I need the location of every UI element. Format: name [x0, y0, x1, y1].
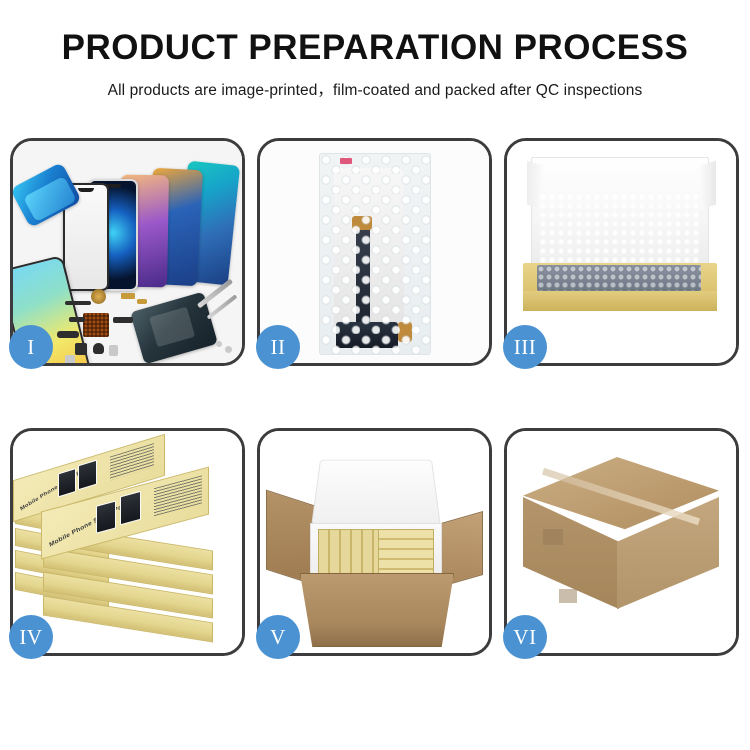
stacked-boxes-photo: Mobile Phone Spare Parts Mobile Phone Sp… — [13, 431, 242, 653]
process-step-grid: I II — [10, 138, 745, 656]
process-step-panel-3[interactable]: III — [504, 138, 739, 366]
process-step-panel-1[interactable]: I — [10, 138, 245, 366]
white-foam-sheet — [539, 193, 699, 265]
flex-cable-part-2 — [137, 299, 147, 304]
step-badge-3: III — [503, 325, 547, 369]
step-badge-4: IV — [9, 615, 53, 659]
page-header: PRODUCT PREPARATION PROCESS All products… — [0, 0, 750, 100]
page-title: PRODUCT PREPARATION PROCESS — [0, 30, 750, 67]
open-flat-box-photo — [507, 141, 736, 363]
process-step-panel-2[interactable]: II — [257, 138, 492, 366]
kraft-tray-front-wall — [523, 291, 717, 311]
step-badge-2: II — [256, 325, 300, 369]
process-step-panel-4[interactable]: Mobile Phone Spare Parts Mobile Phone Sp… — [10, 428, 245, 656]
box-stack: Mobile Phone Spare Parts Mobile Phone Sp… — [13, 431, 242, 653]
step-badge-5: V — [256, 615, 300, 659]
bubble-wrap-bag — [319, 153, 431, 355]
panel-5-image — [260, 431, 489, 653]
foam-lid — [311, 460, 440, 525]
speaker-part — [91, 289, 106, 304]
inner-yellow-boxes-stack — [378, 529, 434, 577]
panel-3-image — [507, 141, 736, 363]
panel-2-image — [260, 141, 489, 363]
carton-body — [300, 573, 454, 647]
panel-4-image: Mobile Phone Spare Parts Mobile Phone Sp… — [13, 431, 242, 653]
button-part — [65, 355, 75, 363]
screw-part-2 — [216, 341, 222, 347]
small-connector-2 — [57, 331, 79, 338]
vibration-motor-part — [93, 343, 104, 354]
camera-module-part — [75, 343, 87, 355]
screw-organizer-part — [83, 313, 109, 337]
panel-6-image — [507, 431, 736, 653]
sim-tray-part — [109, 345, 118, 356]
carton-tape-patch-bottom — [559, 589, 577, 603]
small-connector-1 — [69, 317, 85, 322]
grey-bubble-wrap-fill — [537, 265, 701, 291]
screw-part-1 — [225, 346, 232, 353]
phone-parts-photo — [13, 141, 242, 363]
page-subtitle: All products are image-printed，film-coat… — [0, 78, 750, 100]
earpiece-mesh-part — [65, 301, 91, 305]
step-badge-1: I — [9, 325, 53, 369]
bubble-texture — [320, 154, 430, 354]
carton-tape-patch-left — [543, 529, 563, 545]
flex-cable-part-1 — [121, 293, 135, 299]
process-step-panel-6[interactable]: VI — [504, 428, 739, 656]
box-lid-flap-right — [700, 161, 716, 210]
process-step-panel-5[interactable]: V — [257, 428, 492, 656]
small-connector-3 — [113, 317, 133, 323]
step-badge-6: VI — [503, 615, 547, 659]
qc-sticker — [340, 158, 352, 164]
bubble-wrapped-screen-photo — [260, 141, 489, 363]
panel-1-image — [13, 141, 242, 363]
carton-with-foam-photo — [260, 431, 489, 653]
sealed-carton-photo — [507, 431, 736, 653]
